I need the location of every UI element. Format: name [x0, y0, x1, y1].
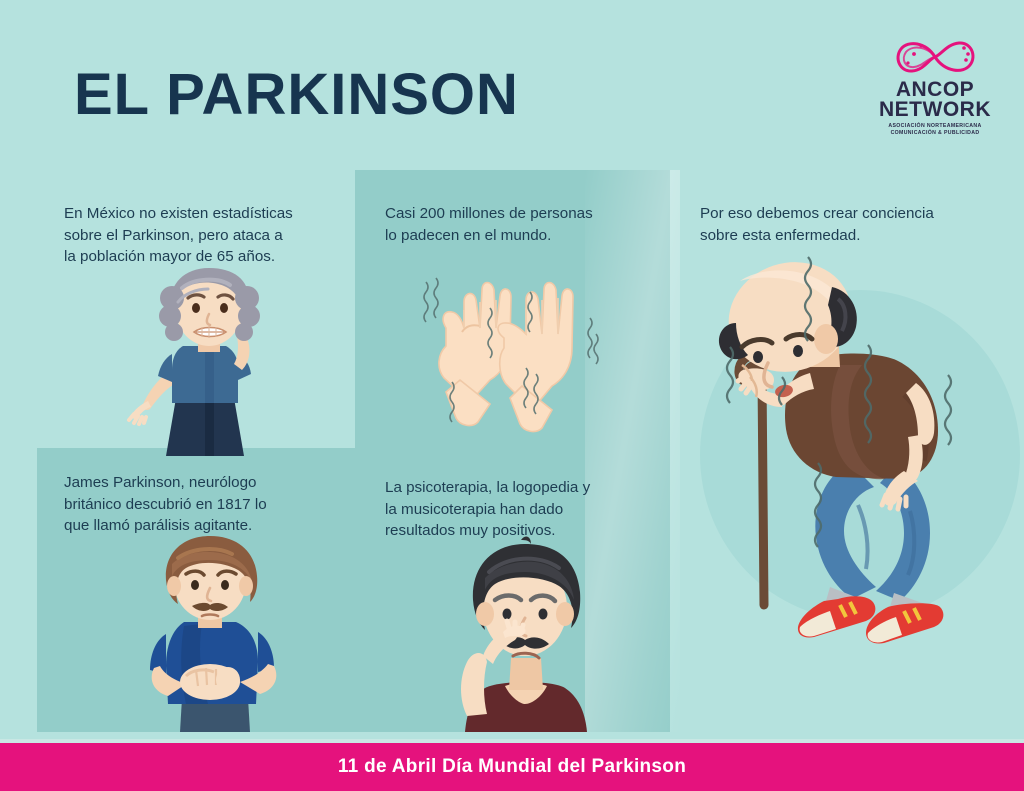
man-touching-face-illustration [425, 528, 625, 732]
bottom-banner-text: 11 de Abril Día Mundial del Parkinson [338, 756, 686, 778]
infinity-symbol-icon [874, 34, 996, 80]
logo-subline-2: COMUNICACIÓN & PUBLICIDAD [874, 130, 996, 137]
logo-line-1: ANCOP [874, 80, 996, 100]
bottom-banner: 11 de Abril Día Mundial del Parkinson [0, 743, 1024, 791]
elderly-man-with-cane-illustration [690, 265, 1010, 685]
blurb-awareness: Por eso debemos crear conciencia sobre e… [700, 203, 980, 246]
trembling-hands-illustration [400, 262, 620, 437]
ancop-network-logo: ANCOP NETWORK ASOCIACIÓN NORTEAMERICANA … [874, 34, 996, 137]
elderly-woman-headache-illustration [110, 258, 310, 458]
logo-line-2: NETWORK [874, 100, 996, 120]
blurb-world-prevalence: Casi 200 millones de personas lo padecen… [385, 203, 625, 246]
page-title: EL PARKINSON [74, 66, 519, 124]
blurb-james-parkinson-history: James Parkinson, neurólogo británico des… [64, 472, 334, 537]
man-holding-stomach-illustration [110, 530, 310, 732]
infographic-canvas: EL PARKINSON ANCOP NETWORK ASOCIACIÓN NO… [0, 0, 1024, 791]
